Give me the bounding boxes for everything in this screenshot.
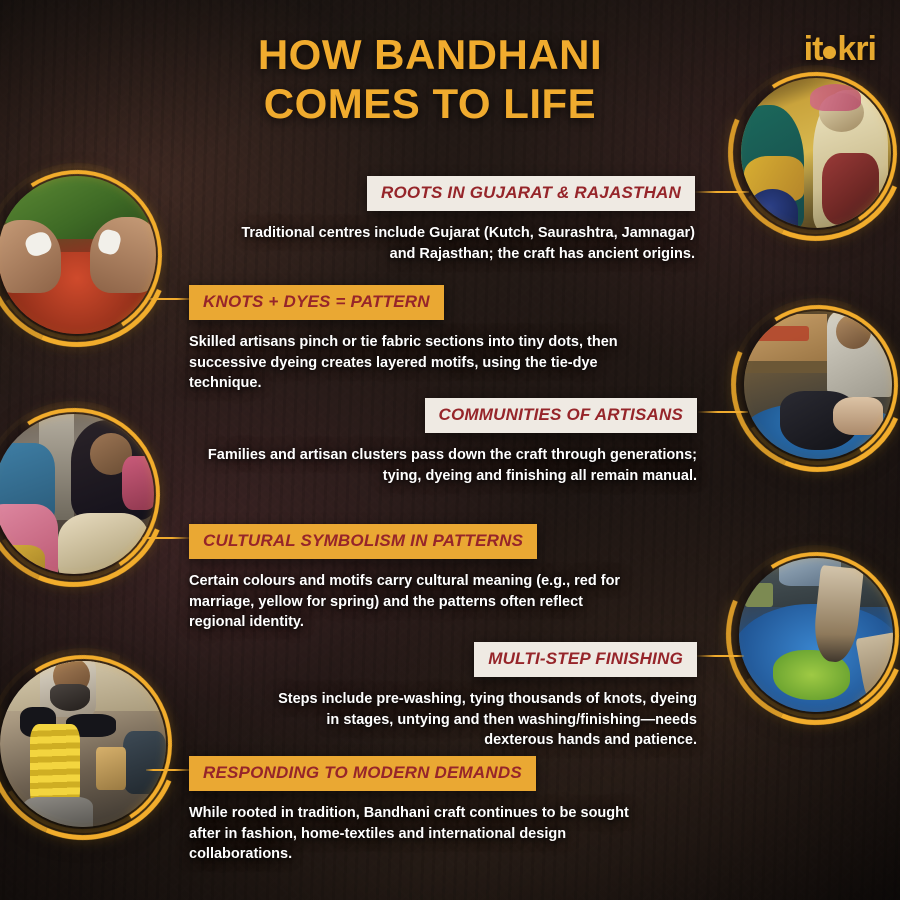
step-label: MULTI-STEP FINISHING: [474, 642, 697, 677]
brand-logo[interactable]: itkri: [780, 28, 876, 70]
step-label: KNOTS + DYES = PATTERN: [189, 285, 444, 320]
step-cultural-symbolism-in-patterns: CULTURAL SYMBOLISM IN PATTERNS Certain c…: [189, 524, 639, 633]
page-title-line-1: HOW BANDHANI: [0, 30, 860, 79]
step-responding-to-modern-demands: RESPONDING TO MODERN DEMANDS While roote…: [189, 756, 659, 865]
page-title-line-2: COMES TO LIFE: [0, 79, 860, 128]
page-title: HOW BANDHANI COMES TO LIFE: [0, 30, 900, 128]
step-body: While rooted in tradition, Bandhani craf…: [189, 803, 659, 865]
step-body: Steps include pre-washing, tying thousan…: [262, 689, 697, 751]
step-body: Families and artisan clusters pass down …: [205, 445, 697, 486]
step-body: Traditional centres include Gujarat (Kut…: [240, 223, 695, 264]
step-knots-dyes-pattern: KNOTS + DYES = PATTERN Skilled artisans …: [189, 285, 649, 394]
step-roots-in-gujarat-rajasthan: ROOTS IN GUJARAT & RAJASTHAN Traditional…: [240, 176, 695, 264]
infographic-canvas: HOW BANDHANI COMES TO LIFE itkri ROOTS I…: [0, 0, 900, 900]
step-multi-step-finishing: MULTI-STEP FINISHING Steps include pre-w…: [262, 642, 697, 751]
step-body: Certain colours and motifs carry cultura…: [189, 571, 639, 633]
logo-dot-icon: [823, 46, 836, 59]
step-label: RESPONDING TO MODERN DEMANDS: [189, 756, 536, 791]
logo-text-part-2: kri: [837, 30, 876, 69]
step-label: COMMUNITIES OF ARTISANS: [425, 398, 698, 433]
step-label: CULTURAL SYMBOLISM IN PATTERNS: [189, 524, 537, 559]
step-communities-of-artisans: COMMUNITIES OF ARTISANS Families and art…: [205, 398, 697, 486]
step-body: Skilled artisans pinch or tie fabric sec…: [189, 332, 649, 394]
step-label: ROOTS IN GUJARAT & RAJASTHAN: [367, 176, 695, 211]
logo-text-part-1: it: [804, 30, 823, 69]
content-layer: HOW BANDHANI COMES TO LIFE itkri ROOTS I…: [0, 0, 900, 900]
